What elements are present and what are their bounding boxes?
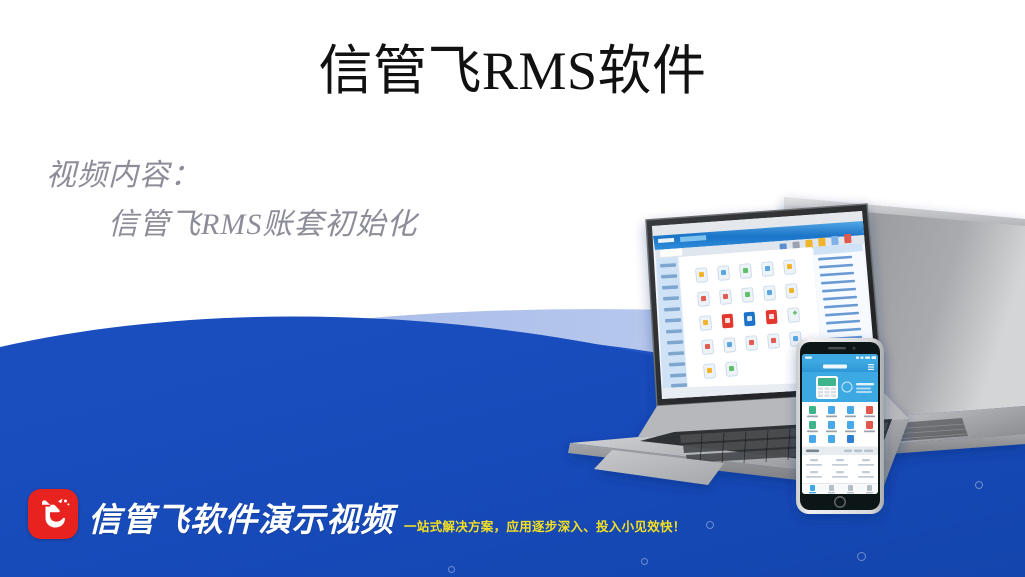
subtitle-label: 视频内容： [46, 159, 201, 192]
brand-tagline: 一站式解决方案，应用逐步深入、投入小见效快！ [404, 521, 686, 540]
page-title: 信管飞RMS软件 [0, 42, 1025, 101]
brand-name: 信管飞软件演示视频 [88, 503, 394, 539]
slide-canvas: 信管飞RMS软件 视频内容： 信管飞RMS账套初始化 [0, 0, 1025, 577]
phone-device [796, 338, 884, 514]
subtitle-block: 视频内容： 信管飞RMS账套初始化 [46, 152, 417, 249]
subtitle-content: 信管飞RMS账套初始化 [46, 201, 417, 250]
xinguanfei-logo-icon: ® [28, 489, 78, 539]
device-cluster [462, 188, 1025, 528]
phone-screen-content [801, 354, 879, 494]
brand-bar: ® 信管飞软件演示视频 一站式解决方案，应用逐步深入、投入小见效快！ [28, 489, 686, 539]
